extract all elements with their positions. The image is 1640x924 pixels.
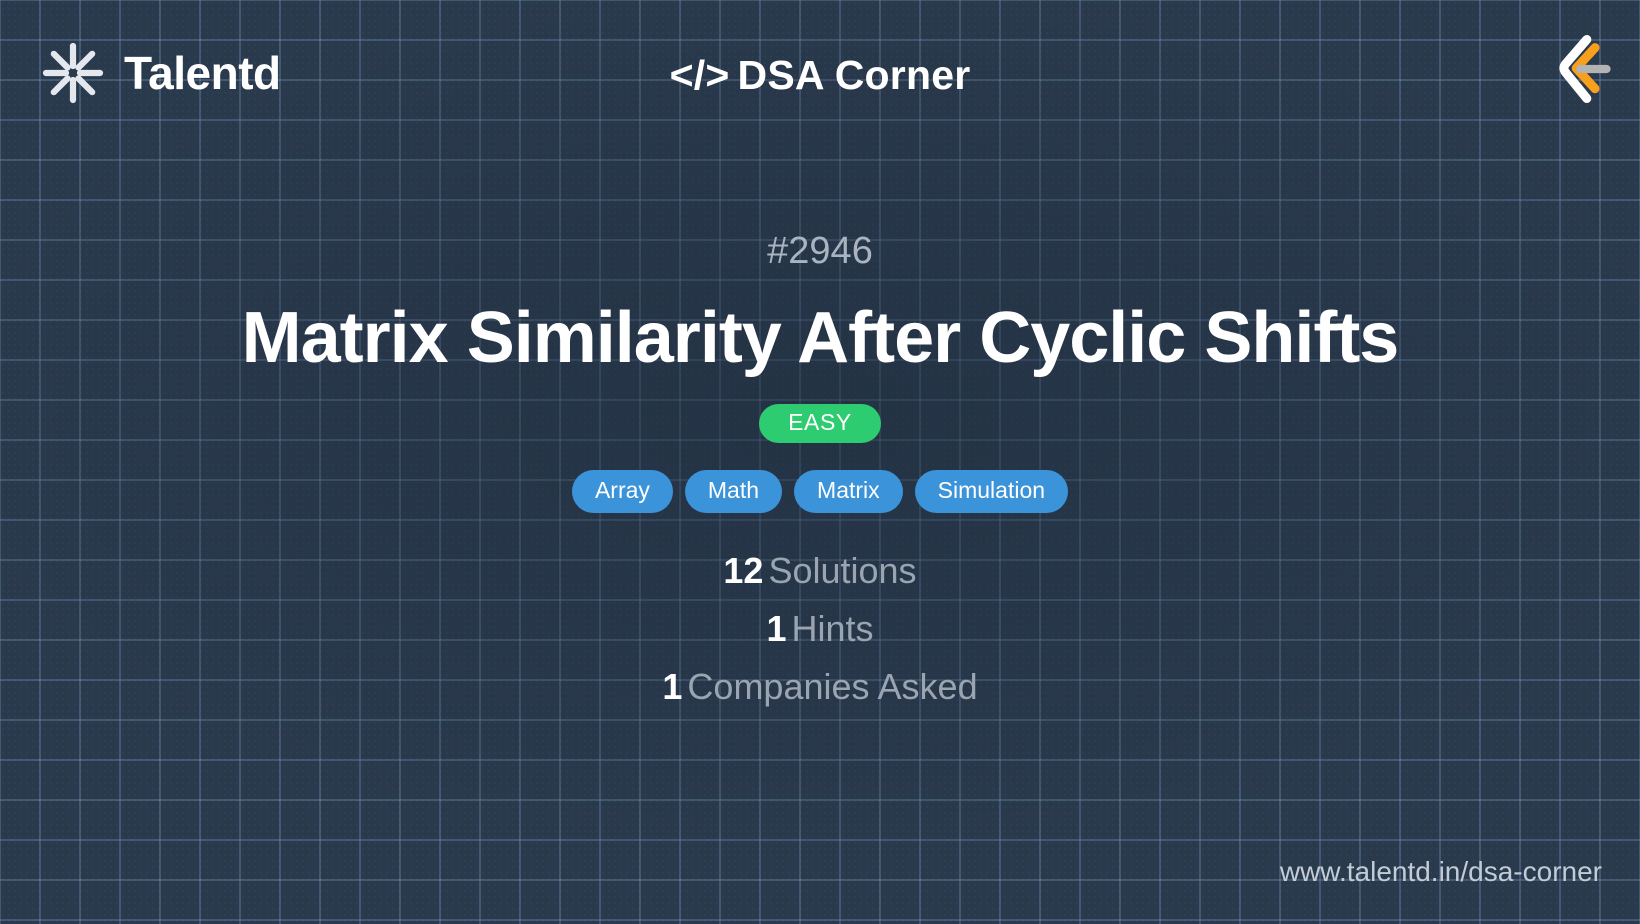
- tag-list: Array Math Matrix Simulation: [572, 470, 1068, 513]
- problem-card: #2946 Matrix Similarity After Cyclic Shi…: [0, 170, 1640, 705]
- stat-label: Hints: [791, 608, 873, 649]
- tag-chip[interactable]: Simulation: [915, 470, 1068, 513]
- footer-url[interactable]: www.talentd.in/dsa-corner: [1280, 856, 1602, 888]
- problem-number: #2946: [767, 232, 873, 270]
- problem-title: Matrix Similarity After Cyclic Shifts: [242, 300, 1399, 378]
- dsa-corner-card: Talentd </>DSA Corner #2946 Matrix Simil…: [0, 0, 1640, 924]
- stat-label: Solutions: [768, 550, 916, 591]
- tag-chip[interactable]: Matrix: [794, 470, 903, 513]
- stat-row: 1Companies Asked: [662, 669, 977, 705]
- stat-value: 12: [723, 550, 763, 591]
- stats-list: 12Solutions 1Hints 1Companies Asked: [662, 553, 977, 705]
- code-brackets-icon: </>: [670, 52, 730, 98]
- difficulty-badge: EASY: [759, 404, 881, 443]
- page-title: </>DSA Corner: [0, 52, 1640, 99]
- stat-label: Companies Asked: [687, 666, 977, 707]
- stat-row: 1Hints: [766, 611, 873, 647]
- tag-chip[interactable]: Math: [685, 470, 782, 513]
- header-bar: Talentd </>DSA Corner: [0, 0, 1640, 152]
- leetcode-logo-icon: [1536, 28, 1618, 110]
- section-title-label: DSA Corner: [738, 52, 971, 98]
- stat-value: 1: [766, 608, 786, 649]
- stat-row: 12Solutions: [723, 553, 916, 589]
- stat-value: 1: [662, 666, 682, 707]
- tag-chip[interactable]: Array: [572, 470, 673, 513]
